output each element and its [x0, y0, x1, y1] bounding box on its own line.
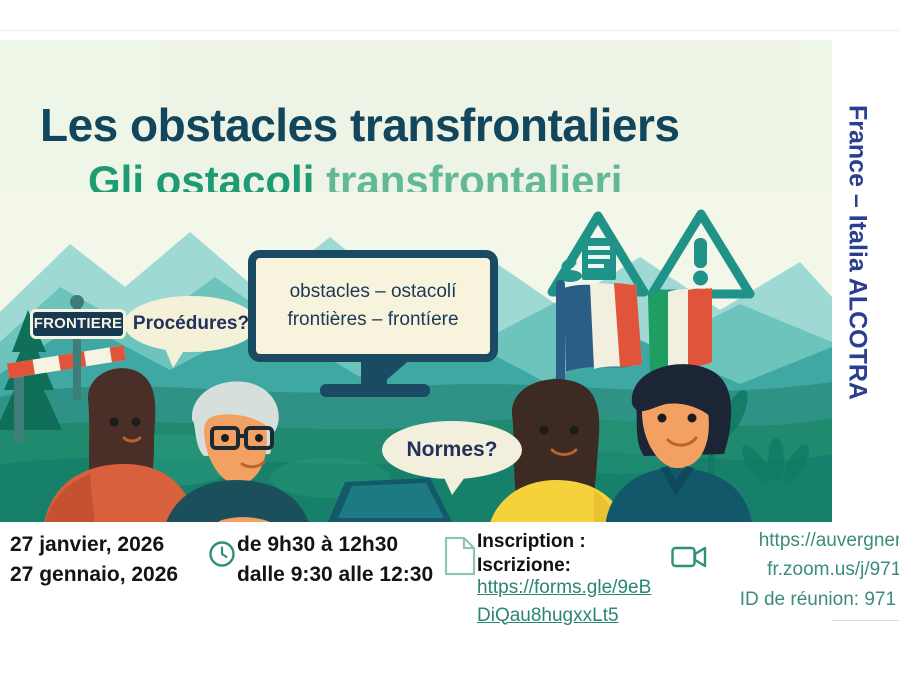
event-time-french: de 9h30 à 12h30 — [237, 530, 433, 560]
event-date-italian: 27 gennaio, 2026 — [10, 560, 178, 590]
page-title-french: Les obstacles transfrontaliers — [40, 102, 679, 148]
zoom-meeting-info[interactable]: https://auvergnerhon fr.zoom.us/j/971986… — [703, 526, 899, 614]
footer-divider-line — [832, 620, 899, 621]
event-time-italian: dalle 9:30 alle 12:30 — [237, 560, 433, 590]
registration-form-link-line1[interactable]: https://forms.gle/9eB — [477, 574, 651, 602]
title-band: Les obstacles transfrontaliers Gli ostac… — [0, 40, 832, 192]
top-white-strip — [0, 0, 899, 40]
document-icon — [443, 536, 477, 576]
poster-root: Les obstacles transfrontaliers Gli ostac… — [0, 0, 899, 674]
event-date-french: 27 janvier, 2026 — [10, 530, 178, 560]
frontiere-sign-label: FRONTIERE — [33, 312, 123, 336]
speech-bubble-normes-text: Normes? — [406, 438, 497, 462]
frontiere-road-sign: FRONTIERE — [30, 309, 126, 339]
zoom-link-line1[interactable]: https://auvergnerhon — [703, 526, 899, 555]
registration-form-link-line2[interactable]: DiQau8hugxxLt5 — [477, 602, 651, 630]
registration-heading: Inscription : Iscrizione: — [477, 530, 586, 578]
illustration: FRONTIERE Procédures? Normes? obstacles … — [0, 192, 832, 522]
top-divider-line — [0, 30, 899, 31]
registration-heading-french: Inscription : — [477, 530, 586, 554]
event-time: de 9h30 à 12h30 dalle 9:30 alle 12:30 — [237, 530, 433, 591]
speech-bubble-procedures: Procédures? — [124, 296, 258, 352]
zoom-meeting-id: ID de réunion: 971 986 — [703, 585, 899, 614]
registration-form-link[interactable]: https://forms.gle/9eB DiQau8hugxxLt5 — [477, 574, 651, 629]
zoom-link-line2[interactable]: fr.zoom.us/j/971986 — [703, 555, 899, 584]
event-date: 27 janvier, 2026 27 gennaio, 2026 — [10, 530, 178, 591]
monitor-bubble-tail — [370, 358, 412, 382]
monitor-screen: obstacles – ostacolí frontières – frontí… — [248, 250, 498, 362]
speech-bubble-normes: Normes? — [382, 421, 522, 479]
footer: 27 janvier, 2026 27 gennaio, 2026 de 9h3… — [0, 522, 899, 674]
programme-label: France – Italia ALCOTRA — [843, 13, 872, 493]
monitor-line-2: frontières – frontíere — [287, 306, 458, 334]
monitor-line-1: obstacles – ostacolí — [290, 278, 457, 306]
clock-icon — [208, 540, 236, 568]
speech-bubble-procedures-text: Procédures? — [133, 313, 249, 335]
